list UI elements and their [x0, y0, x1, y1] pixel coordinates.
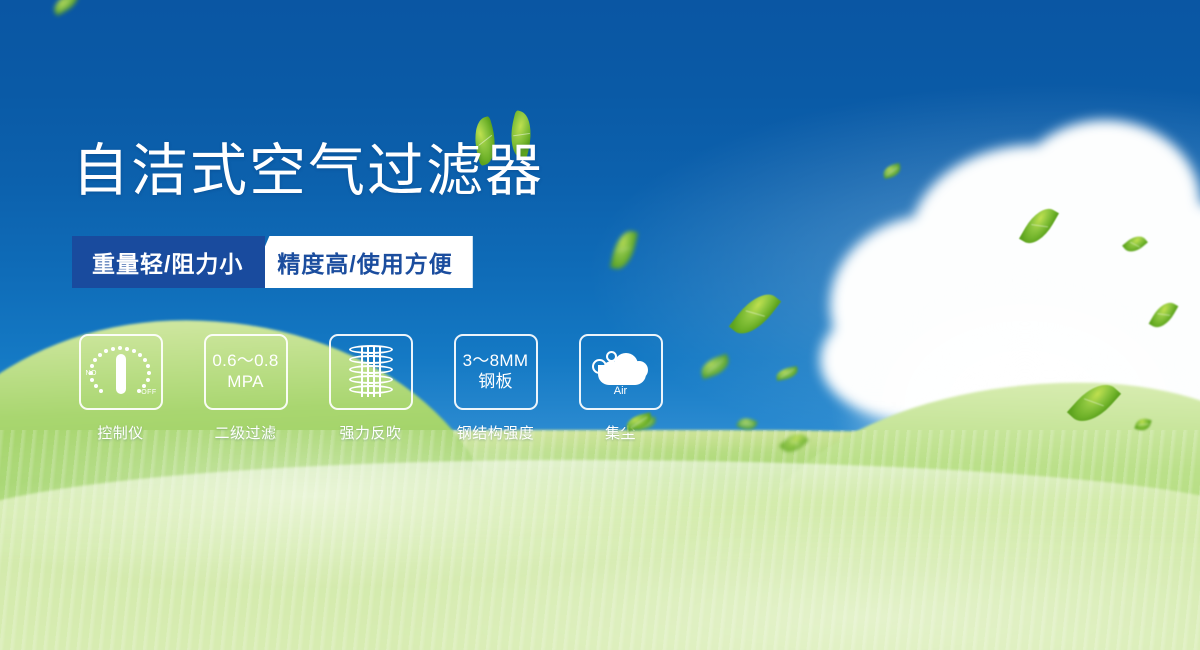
subtitle-segment-secondary: 精度高/使用方便 — [247, 236, 472, 288]
feature-caption: 控制仪 — [97, 422, 144, 443]
page-title: 自洁式空气过滤器 — [72, 143, 544, 200]
feature-item-backblow[interactable]: 强力反吹 — [322, 334, 419, 443]
coil-icon — [345, 343, 397, 401]
feature-caption: 钢结构强度 — [457, 422, 535, 443]
feature-value-line1: 0.6～0.8 — [212, 351, 278, 372]
feature-item-steel[interactable]: 3～8MM 钢板 钢结构强度 — [447, 334, 544, 443]
feature-value-line2: MPA — [212, 372, 278, 393]
cloud-icon-label: Air — [590, 385, 652, 397]
subtitle-bar: 重量轻/阻力小 精度高/使用方便 — [72, 236, 473, 288]
gauge-label-off: OFF — [141, 389, 156, 396]
feature-item-dust[interactable]: Air 集尘 — [572, 334, 669, 443]
feature-value-line2: 钢板 — [463, 372, 529, 393]
product-banner: 自洁式空气过滤器 重量轻/阻力小 精度高/使用方便 — [0, 0, 1200, 650]
feature-caption: 二级过滤 — [214, 422, 276, 443]
feature-icon-box — [329, 334, 413, 410]
feature-icon-box: NO OFF — [79, 334, 163, 410]
feature-item-controller[interactable]: NO OFF 控制仪 — [72, 334, 169, 443]
feature-icon-box: 0.6～0.8 MPA — [204, 334, 288, 410]
feature-caption: 强力反吹 — [339, 422, 401, 443]
feature-list: NO OFF 控制仪 0.6～0.8 MPA 二级过滤 — [72, 334, 669, 443]
feature-value-line1: 3～8MM — [463, 351, 529, 372]
feature-icon-box: Air — [579, 334, 663, 410]
cloud-icon: Air — [590, 349, 652, 395]
gauge-icon: NO OFF — [87, 343, 155, 401]
subtitle-segment-primary: 重量轻/阻力小 — [72, 236, 265, 288]
feature-icon-box: 3～8MM 钢板 — [454, 334, 538, 410]
feature-item-pressure[interactable]: 0.6～0.8 MPA 二级过滤 — [197, 334, 294, 443]
grass-highlight — [0, 430, 1200, 650]
gauge-label-no: NO — [86, 370, 97, 377]
